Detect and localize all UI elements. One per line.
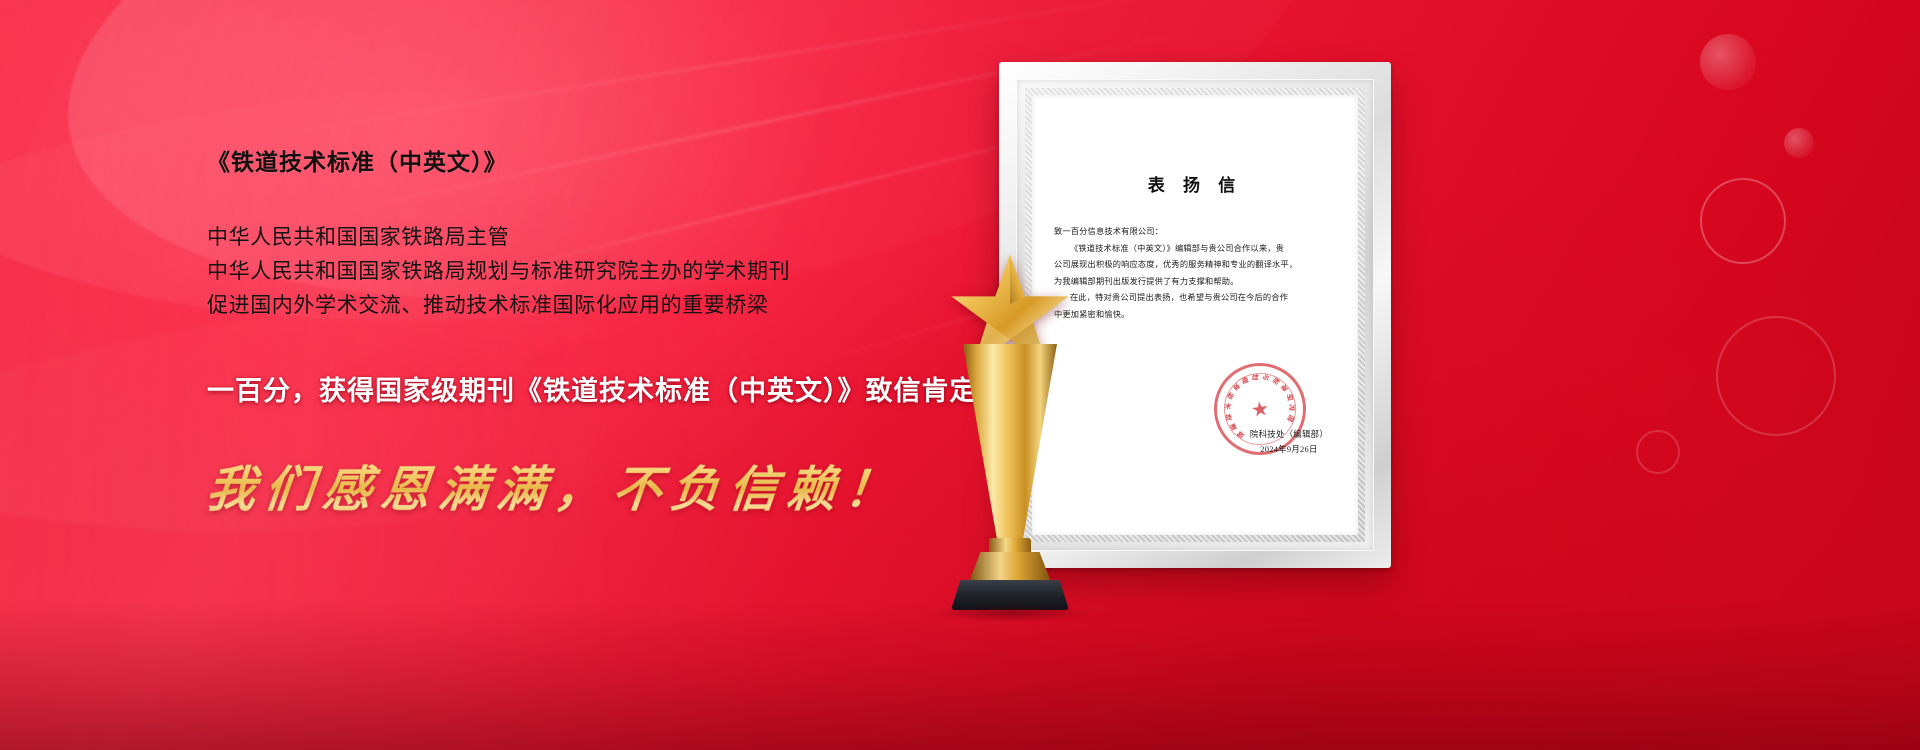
bokeh-circle-1 [1700, 34, 1756, 90]
promo-banner: 《铁道技术标准（中英文）》 中华人民共和国国家铁路局主管 中华人民共和国国家铁路… [0, 0, 1920, 750]
journal-title: 《铁道技术标准（中英文）》 [207, 143, 967, 177]
bokeh-circle-3 [1700, 178, 1786, 264]
bokeh-circle-5 [1636, 430, 1680, 474]
certificate-body-line-4: 在此，特对贵公司提出表扬，也希望与贵公司在今后的合作 [1054, 290, 1336, 307]
certificate-salutation: 致一百分信息技术有限公司： [1054, 224, 1336, 241]
certificate-signature: 院科技处（编辑部） 2024年9月26日 [1250, 427, 1328, 457]
floor-shadow [0, 600, 1920, 750]
certificate-title: 表 扬 信 [1054, 171, 1336, 196]
certificate-body: 致一百分信息技术有限公司： 《铁道技术标准（中英文）》编辑部与贵公司合作以来，贵… [1054, 224, 1336, 323]
bokeh-circle-4 [1716, 316, 1836, 436]
trophy-cone [963, 344, 1057, 549]
certificate-body-line-3: 为我编辑部期刊出版发行提供了有力支撑和帮助。 [1054, 274, 1336, 291]
headline: 一百分，获得国家级期刊《铁道技术标准（中英文）》致信肯定! [207, 369, 967, 408]
trophy-base-gold [969, 552, 1051, 582]
certificate-body-line-1: 《铁道技术标准（中英文）》编辑部与贵公司合作以来，贵 [1054, 241, 1336, 258]
calligraphy-slogan: 我们感恩满满，不负信赖！ [203, 450, 970, 521]
trophy [925, 252, 1095, 572]
certificate-signature-org: 院科技处（编辑部） [1250, 427, 1328, 442]
certificate-signature-date: 2024年9月26日 [1250, 442, 1328, 457]
text-column: 《铁道技术标准（中英文）》 中华人民共和国国家铁路局主管 中华人民共和国国家铁路… [207, 143, 967, 521]
subtitle-line-3: 促进国内外学术交流、推动技术标准国际化应用的重要桥梁 [207, 289, 967, 323]
certificate-body-line-2: 公司展现出积极的响应态度，优秀的服务精神和专业的翻译水平， [1054, 257, 1336, 274]
bokeh-circle-2 [1784, 128, 1814, 158]
subtitle-group: 中华人民共和国国家铁路局主管 中华人民共和国国家铁路局规划与标准研究院主办的学术… [207, 221, 967, 323]
trophy-shadow [931, 604, 1091, 622]
certificate-body-line-5: 中更加紧密和愉快。 [1054, 307, 1336, 324]
subtitle-line-1: 中华人民共和国国家铁路局主管 [207, 221, 967, 255]
subtitle-line-2: 中华人民共和国国家铁路局规划与标准研究院主办的学术期刊 [207, 255, 967, 289]
